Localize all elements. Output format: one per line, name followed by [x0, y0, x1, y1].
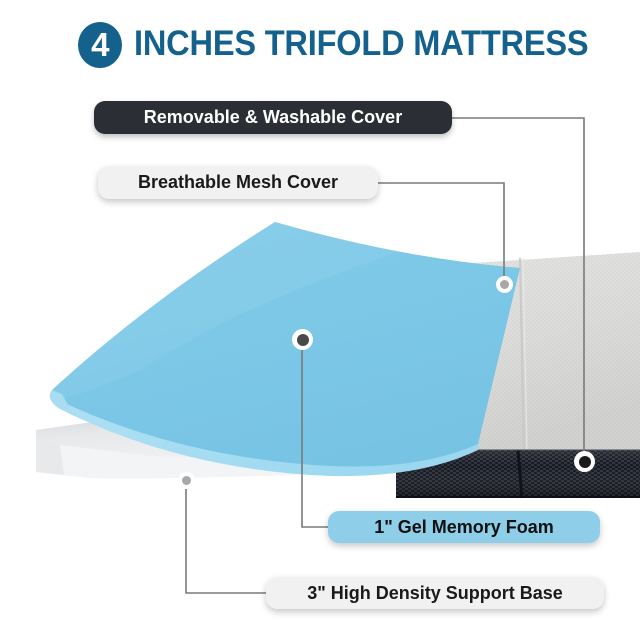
header: 4 INCHES TRIFOLD MATTRESS: [0, 0, 640, 86]
marker-dot-core: [297, 334, 309, 346]
label-high-density-support-base[interactable]: 3" High Density Support Base: [266, 577, 604, 609]
label-removable-washable-cover[interactable]: Removable & Washable Cover: [94, 101, 452, 134]
infographic-page: 4 INCHES TRIFOLD MATTRESS Removable & Wa…: [0, 0, 640, 640]
mattress-illustration: [0, 0, 640, 640]
removable-washable-cover-marker[interactable]: [574, 451, 595, 472]
label-gel-memory-foam[interactable]: 1" Gel Memory Foam: [328, 511, 600, 543]
marker-dot-core: [579, 456, 591, 468]
label-breathable-mesh-cover[interactable]: Breathable Mesh Cover: [98, 166, 378, 199]
marker-dot-core: [182, 476, 191, 485]
breathable-mesh-cover-marker[interactable]: [496, 276, 513, 293]
support-base-marker[interactable]: [178, 472, 195, 489]
inches-badge: 4: [78, 22, 122, 68]
gel-memory-foam-marker[interactable]: [292, 329, 313, 350]
marker-dot-core: [500, 280, 509, 289]
badge-number: 4: [78, 22, 122, 68]
page-title: INCHES TRIFOLD MATTRESS: [134, 24, 588, 64]
callout-line-base: [186, 489, 268, 593]
